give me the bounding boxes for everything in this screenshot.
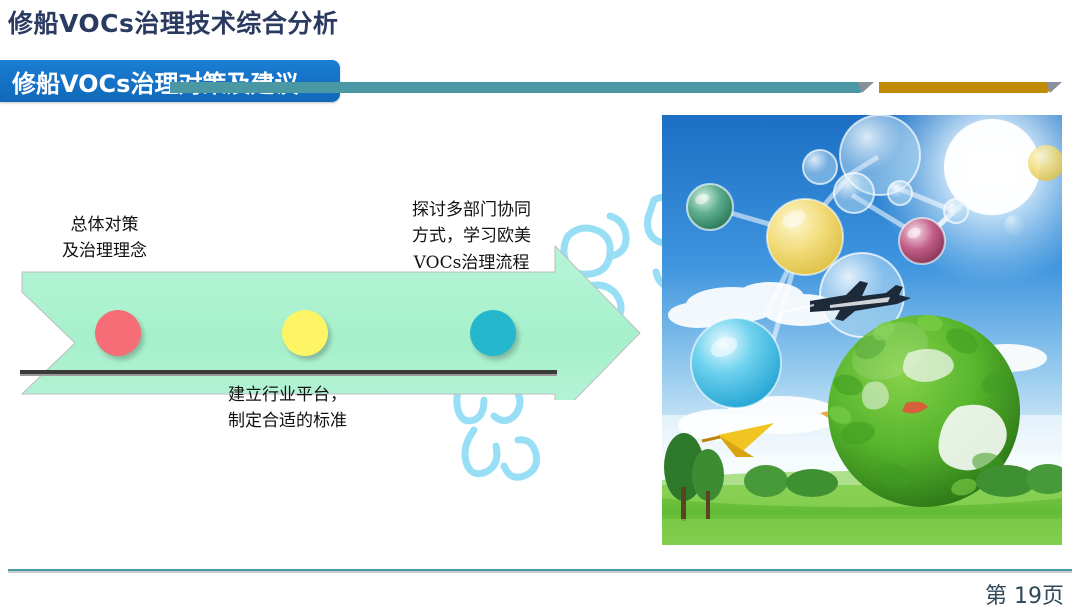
callout-right-line2: 方式，学习欧美	[412, 223, 531, 249]
callout-left-line1: 总体对策	[62, 212, 147, 238]
section-tab-label: 修船VOCs治理对策及建议	[12, 64, 298, 99]
slide-canvas: 修船VOCs治理技术综合分析 修船VOCs治理对策及建议	[0, 0, 1080, 608]
callout-left-line2: 及治理理念	[62, 238, 147, 264]
page-number: 第 19页	[985, 578, 1064, 608]
node-dot-red[interactable]	[95, 310, 141, 356]
teal-ribbon-icon	[170, 82, 872, 93]
callout-right-line3: VOCs治理流程	[412, 250, 531, 276]
gold-ribbon-icon	[879, 82, 1059, 93]
callout-bottom-line2: 制定合适的标准	[228, 408, 347, 434]
callout-bottom-line1: 建立行业平台，	[228, 382, 347, 408]
eco-concept-photo	[662, 115, 1062, 545]
node-dot-teal[interactable]	[470, 310, 516, 356]
callout-bottom: 建立行业平台， 制定合适的标准	[228, 382, 347, 435]
page-title: 修船VOCs治理技术综合分析	[8, 4, 338, 40]
callout-right-line1: 探讨多部门协同	[412, 197, 531, 223]
footer-divider	[8, 569, 1072, 573]
eco-concept-photo-graphic	[662, 115, 1062, 545]
process-arrow-icon	[0, 170, 660, 400]
callout-right: 探讨多部门协同 方式，学习欧美 VOCs治理流程	[412, 197, 531, 276]
node-dot-yellow[interactable]	[282, 310, 328, 356]
section-tab[interactable]: 修船VOCs治理对策及建议	[0, 60, 340, 102]
callout-left: 总体对策 及治理理念	[62, 212, 147, 265]
